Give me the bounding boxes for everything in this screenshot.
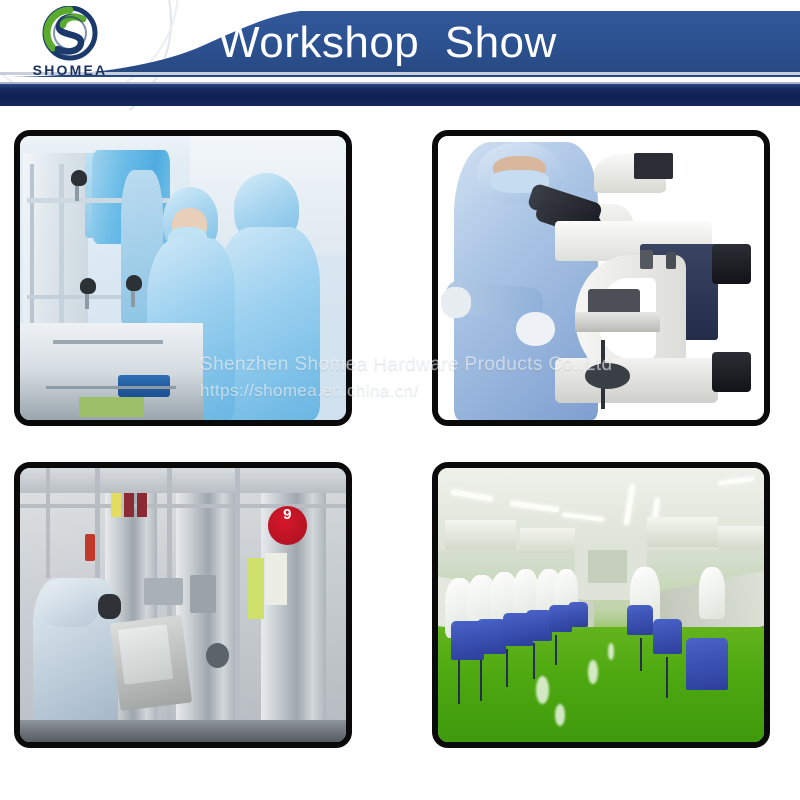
photo-bottom-right[interactable]: [432, 462, 770, 748]
tank-number-sign: 9: [268, 506, 307, 544]
header-navy-band: [0, 84, 800, 106]
page-header: SHOMEA Workshop Show: [0, 0, 800, 110]
shomea-circular-s-logo: [28, 6, 112, 64]
photo-top-right[interactable]: [432, 130, 770, 426]
page-title: Workshop Show: [218, 12, 648, 74]
photo-bottom-right-image: [438, 468, 764, 742]
photo-bottom-left-image: 9: [20, 468, 346, 742]
photo-top-left[interactable]: [14, 130, 352, 426]
shomea-logo[interactable]: SHOMEA: [28, 6, 112, 82]
photo-gallery: 9: [0, 110, 800, 800]
photo-top-right-image: [438, 136, 764, 420]
photo-top-left-image: [20, 136, 346, 420]
logo-wordmark: SHOMEA: [28, 62, 112, 78]
photo-bottom-left[interactable]: 9: [14, 462, 352, 748]
